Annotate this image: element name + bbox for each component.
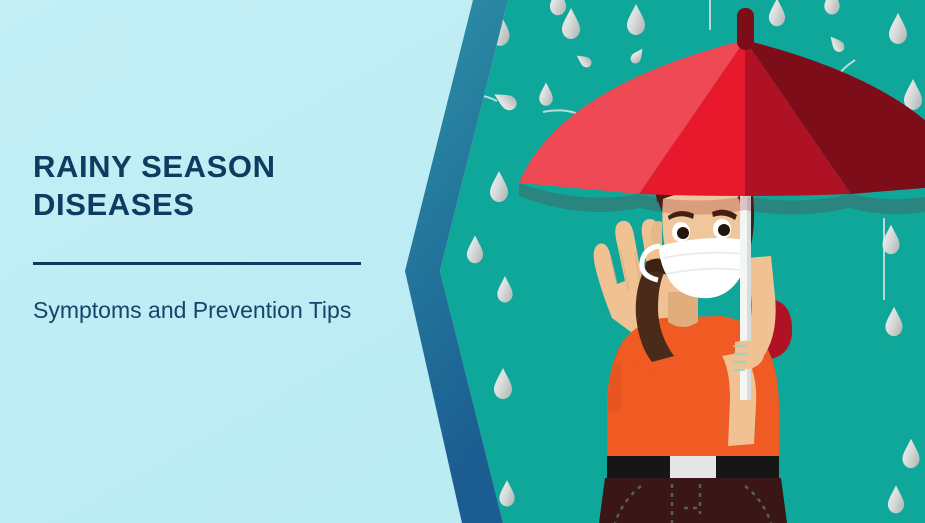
pupil-right bbox=[718, 224, 730, 236]
belt-buckle bbox=[670, 456, 716, 478]
page-subtitle: Symptoms and Prevention Tips bbox=[33, 295, 389, 326]
text-block: RAINY SEASON DISEASES Symptoms and Preve… bbox=[33, 148, 393, 326]
rainy-season-banner: RAINY SEASON DISEASES Symptoms and Preve… bbox=[0, 0, 925, 523]
umbrella-finial bbox=[737, 8, 754, 50]
pupil-left bbox=[677, 227, 689, 239]
page-title: RAINY SEASON DISEASES bbox=[33, 148, 393, 224]
neck bbox=[668, 292, 698, 327]
title-divider bbox=[33, 262, 361, 265]
